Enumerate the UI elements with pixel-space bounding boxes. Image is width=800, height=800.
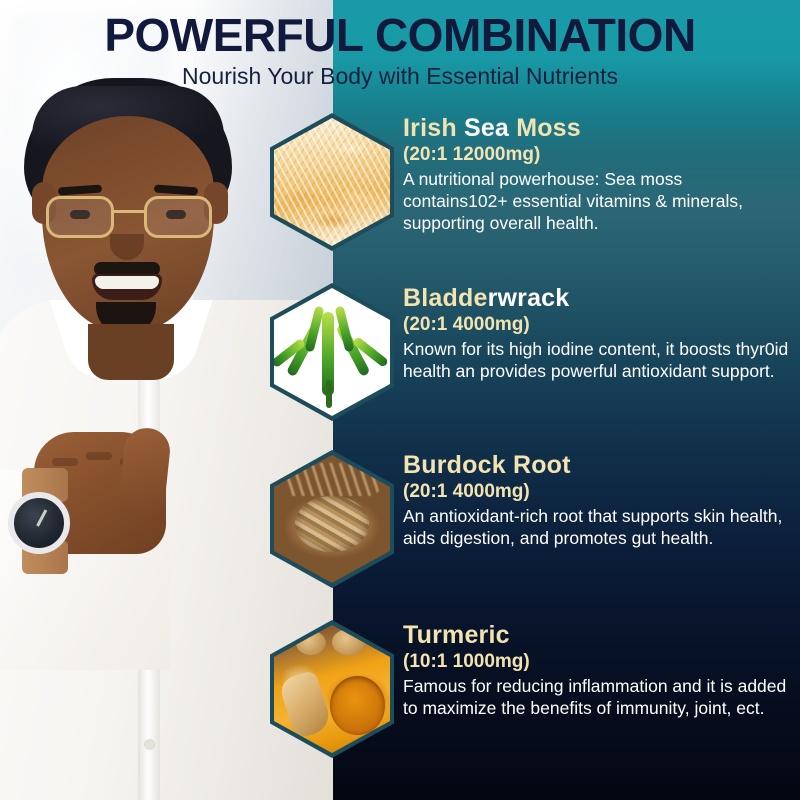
sea-moss-artwork [274, 118, 390, 246]
wristwatch [8, 492, 70, 554]
knuckle [86, 452, 112, 460]
ingredient-dose: (20:1 4000mg) [403, 313, 790, 337]
ingredient-row-burdock-root: Burdock Root (20:1 4000mg) An antioxidan… [270, 450, 800, 610]
ingredient-name-part1: Irish [403, 114, 464, 142]
burdock-root-hexagon-icon [270, 450, 394, 588]
burdock-root-artwork [274, 455, 390, 583]
burdock-root-image [274, 455, 390, 583]
turmeric-hexagon-icon [270, 620, 394, 758]
ingredient-name: Irish Sea Moss [403, 113, 790, 143]
ingredient-name: Burdock Root [403, 450, 790, 480]
ingredient-row-bladderwrack: Bladderwrack (20:1 4000mg) Known for its… [270, 283, 800, 443]
ingredient-dose: (20:1 12000mg) [403, 143, 790, 167]
ingredient-name-part2: rwrack [488, 284, 570, 312]
bladderwrack-artwork [274, 288, 390, 416]
sea-moss-image [274, 118, 390, 246]
ingredient-name: Turmeric [403, 620, 790, 650]
turmeric-root [296, 631, 326, 655]
model-head [18, 78, 238, 336]
bladderwrack-image [274, 288, 390, 416]
ingredient-name-part3: Moss [516, 114, 581, 142]
sea-moss-hexagon-icon [270, 113, 394, 251]
turmeric-root [332, 629, 366, 655]
ingredient-name: Bladderwrack [403, 283, 790, 313]
ingredient-dose: (10:1 1000mg) [403, 650, 790, 674]
page-title: POWERFUL COMBINATION [0, 10, 800, 60]
ingredient-text-block: Irish Sea Moss (20:1 12000mg) A nutritio… [403, 113, 790, 234]
turmeric-artwork [274, 625, 390, 753]
ingredient-dose: (20:1 4000mg) [403, 480, 790, 504]
ingredient-text-block: Bladderwrack (20:1 4000mg) Known for its… [403, 283, 790, 382]
ingredient-description: An antioxidant-rich root that supports s… [403, 505, 790, 549]
knuckle [52, 458, 78, 466]
ingredient-description: Known for its high iodine content, it bo… [403, 338, 790, 382]
supplement-promo-poster: POWERFUL COMBINATION Nourish Your Body w… [0, 0, 800, 800]
teeth [95, 276, 159, 289]
shirt-button [145, 740, 154, 749]
bladderwrack-hexagon-icon [270, 283, 394, 421]
ingredient-row-irish-sea-moss: Irish Sea Moss (20:1 12000mg) A nutritio… [270, 113, 800, 273]
ingredient-name-part1: Turmeric [403, 621, 510, 649]
glasses-bridge [114, 210, 144, 213]
thumb [118, 426, 172, 512]
lens-right [144, 196, 212, 238]
ingredient-description: A nutritional powerhouse: Sea moss conta… [403, 168, 790, 234]
lens-left [46, 196, 114, 238]
ingredient-text-block: Burdock Root (20:1 4000mg) An antioxidan… [403, 450, 790, 549]
page-subtitle: Nourish Your Body with Essential Nutrien… [0, 62, 800, 90]
ingredient-row-turmeric: Turmeric (10:1 1000mg) Famous for reduci… [270, 620, 800, 780]
ingredient-name-part1: Burdock Root [403, 451, 571, 479]
ingredient-text-block: Turmeric (10:1 1000mg) Famous for reduci… [403, 620, 790, 719]
stem [326, 380, 332, 408]
ingredient-name-part2: Sea [464, 114, 516, 142]
turmeric-image [274, 625, 390, 753]
ingredient-name-part1: Bladde [403, 284, 488, 312]
neck [88, 324, 174, 380]
smiling-mouth [92, 274, 162, 300]
ingredient-description: Famous for reducing inflammation and it … [403, 675, 790, 719]
